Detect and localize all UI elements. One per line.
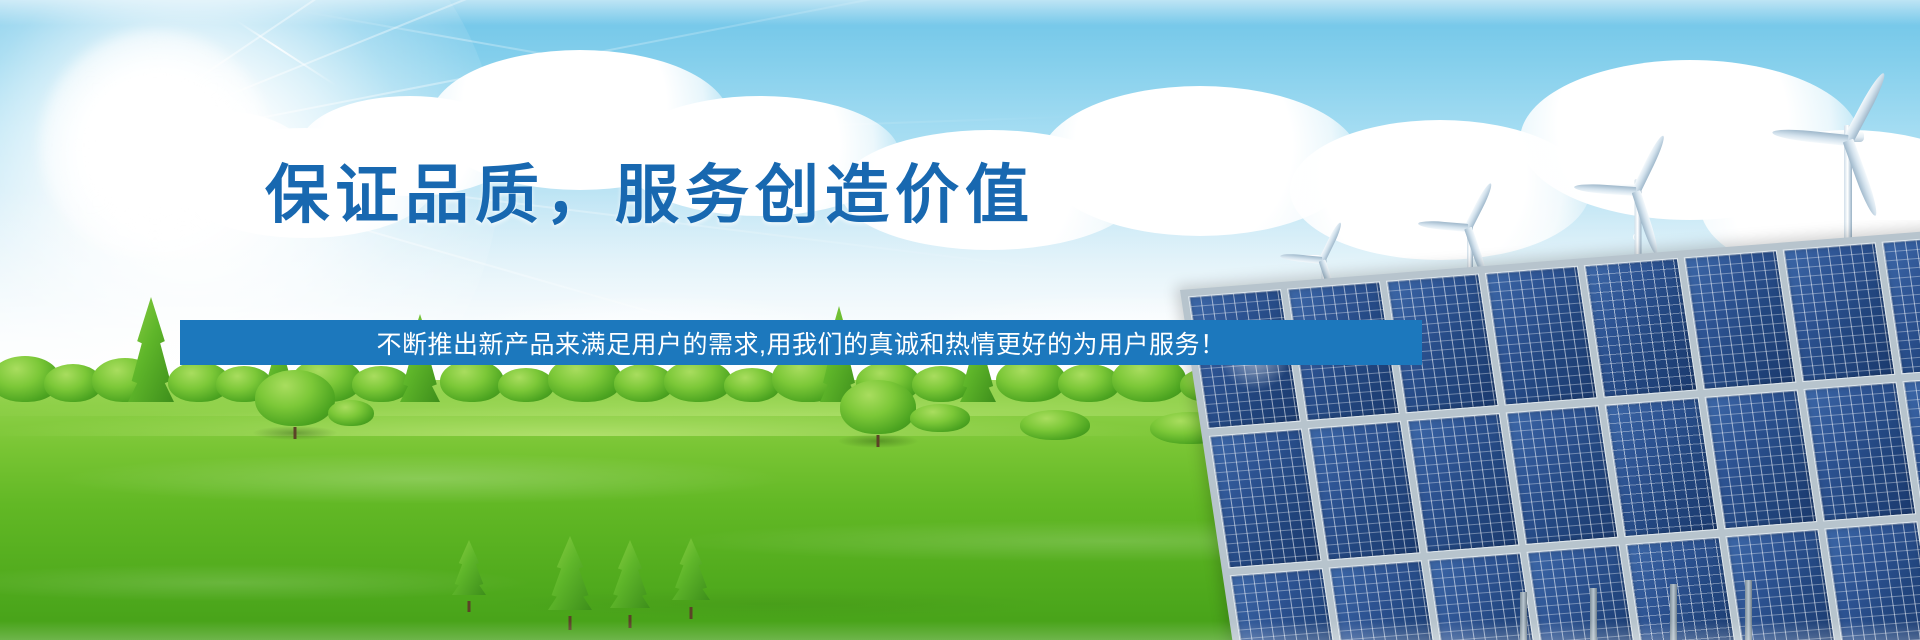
solar-panel-array bbox=[1160, 220, 1920, 640]
solar-panel-cell bbox=[1704, 390, 1817, 530]
solar-panel-cell bbox=[1407, 413, 1520, 553]
subtitle-bar: 不断推出新产品来满足用户的需求,用我们的真诚和热情更好的为用户服务！ bbox=[180, 320, 1422, 365]
solar-panel-cell bbox=[1506, 405, 1619, 545]
solar-panel-cell bbox=[1605, 397, 1718, 537]
solar-panel-cell bbox=[1485, 266, 1598, 406]
solar-panel-cell bbox=[1209, 429, 1322, 569]
solar-panel-cell bbox=[1782, 242, 1895, 382]
solar-panel-cell bbox=[1329, 560, 1442, 640]
solar-panel-cell bbox=[1308, 421, 1421, 561]
solar-panel-legs bbox=[1510, 570, 1770, 640]
page-title: 保证品质，服务创造价值 bbox=[0, 163, 1300, 227]
promo-banner: 保证品质，服务创造价值 不断推出新产品来满足用户的需求,用我们的真诚和热情更好的… bbox=[0, 0, 1920, 640]
solar-panel-cell bbox=[1824, 521, 1920, 640]
solar-panel-cell bbox=[1230, 568, 1343, 640]
subtitle-text: 不断推出新产品来满足用户的需求,用我们的真诚和热情更好的为用户服务！ bbox=[377, 325, 1226, 361]
solar-panel-cell bbox=[1683, 250, 1796, 390]
solar-panel-cell bbox=[1803, 382, 1916, 522]
solar-panel-cell bbox=[1584, 258, 1697, 398]
